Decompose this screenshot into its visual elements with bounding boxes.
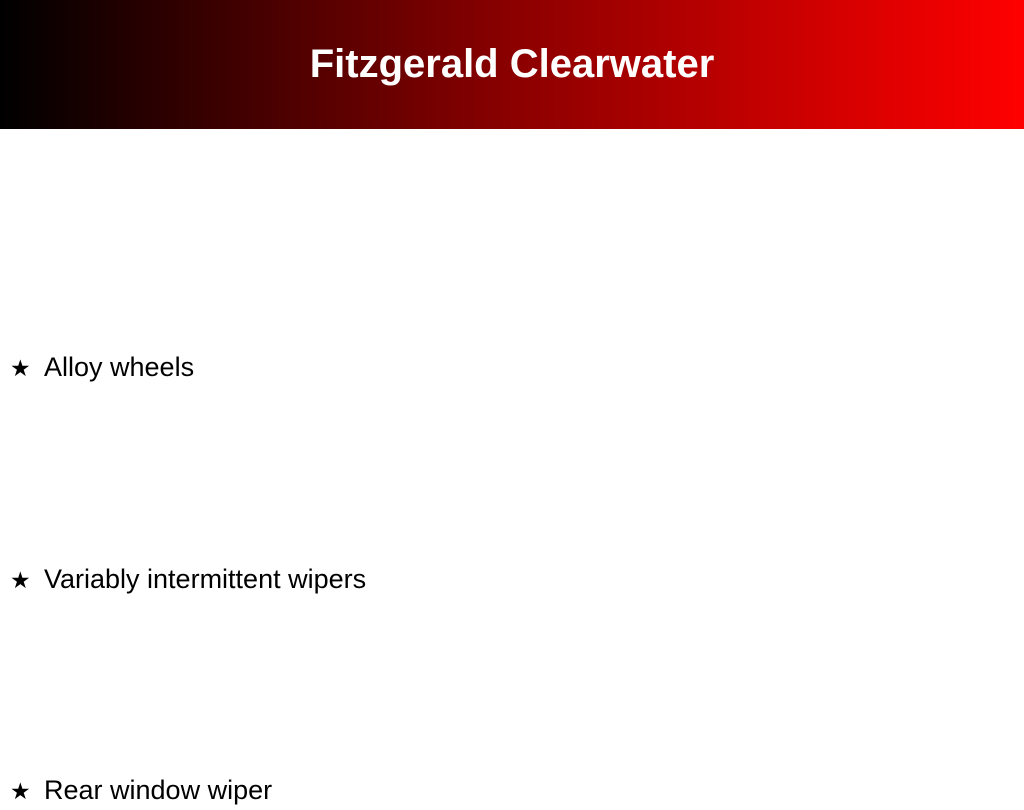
star-bullet-icon: ★ bbox=[10, 772, 44, 810]
list-item-label: Rear window wiper bbox=[44, 771, 272, 809]
page-title: Fitzgerald Clearwater bbox=[310, 44, 715, 86]
list-item: ★ Rear window wiper bbox=[10, 771, 272, 810]
bullet-list: ★ Alloy wheels ★ Variably intermittent w… bbox=[0, 129, 1024, 768]
star-bullet-icon: ★ bbox=[10, 349, 44, 387]
slide-title-banner: Fitzgerald Clearwater bbox=[0, 0, 1024, 129]
presentation-slide: Fitzgerald Clearwater ★ Alloy wheels ★ V… bbox=[0, 0, 1024, 768]
list-item: ★ Alloy wheels bbox=[10, 348, 194, 387]
star-bullet-icon: ★ bbox=[10, 561, 44, 599]
list-item-label: Alloy wheels bbox=[44, 348, 194, 386]
list-item-label: Variably intermittent wipers bbox=[44, 560, 366, 598]
list-item: ★ Variably intermittent wipers bbox=[10, 560, 366, 599]
